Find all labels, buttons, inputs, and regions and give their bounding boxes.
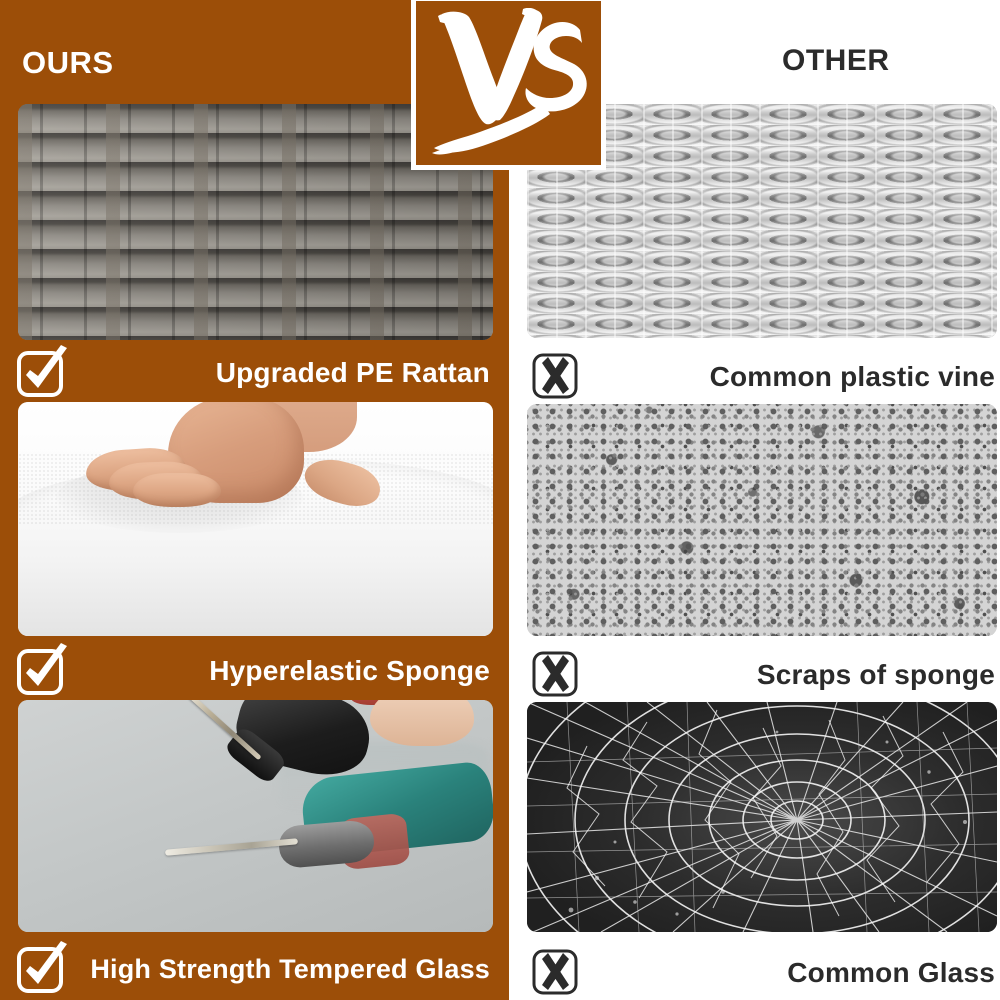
sponge-scrap-texture [527,404,997,636]
label-ours-1: Upgraded PE Rattan [64,357,494,389]
row-label-other-2: Scraps of sponge [533,650,997,700]
heading-other: OTHER [782,44,890,78]
label-other-3: Common Glass [579,957,997,989]
check-mark-icon [18,350,64,396]
row-label-ours-2: Hyperelastic Sponge [18,646,494,696]
operator-hand [370,700,475,746]
row-label-ours-3: High Strength Tempered Glass [18,944,494,994]
image-ours-tempered-glass [18,700,493,932]
finger-3 [133,473,221,507]
label-ours-3: High Strength Tempered Glass [64,954,494,985]
image-ours-sponge [18,402,493,636]
heading-ours: OURS [22,45,114,81]
image-other-sponge-scrap [527,404,997,636]
check-mark-icon [18,946,64,992]
drill-test-scene [18,700,493,932]
vs-badge [411,0,606,170]
cross-mark-icon [533,354,579,400]
label-other-1: Common plastic vine [579,361,997,393]
row-label-other-1: Common plastic vine [533,352,997,402]
shattered-glass-texture [527,702,997,932]
cross-mark-icon [533,950,579,996]
thumb [299,453,384,513]
comparison-infographic: OURS OTHER [0,0,1000,1000]
vs-brush-icon [424,8,594,158]
hand-pressing [80,402,375,533]
image-other-broken-glass [527,702,997,932]
row-label-ours-1: Upgraded PE Rattan [18,348,494,398]
check-mark-icon [18,648,64,694]
row-label-other-3: Common Glass [533,948,997,998]
label-other-2: Scraps of sponge [579,659,997,691]
foam-texture [18,402,493,636]
label-ours-2: Hyperelastic Sponge [64,655,494,687]
cross-mark-icon [533,652,579,698]
